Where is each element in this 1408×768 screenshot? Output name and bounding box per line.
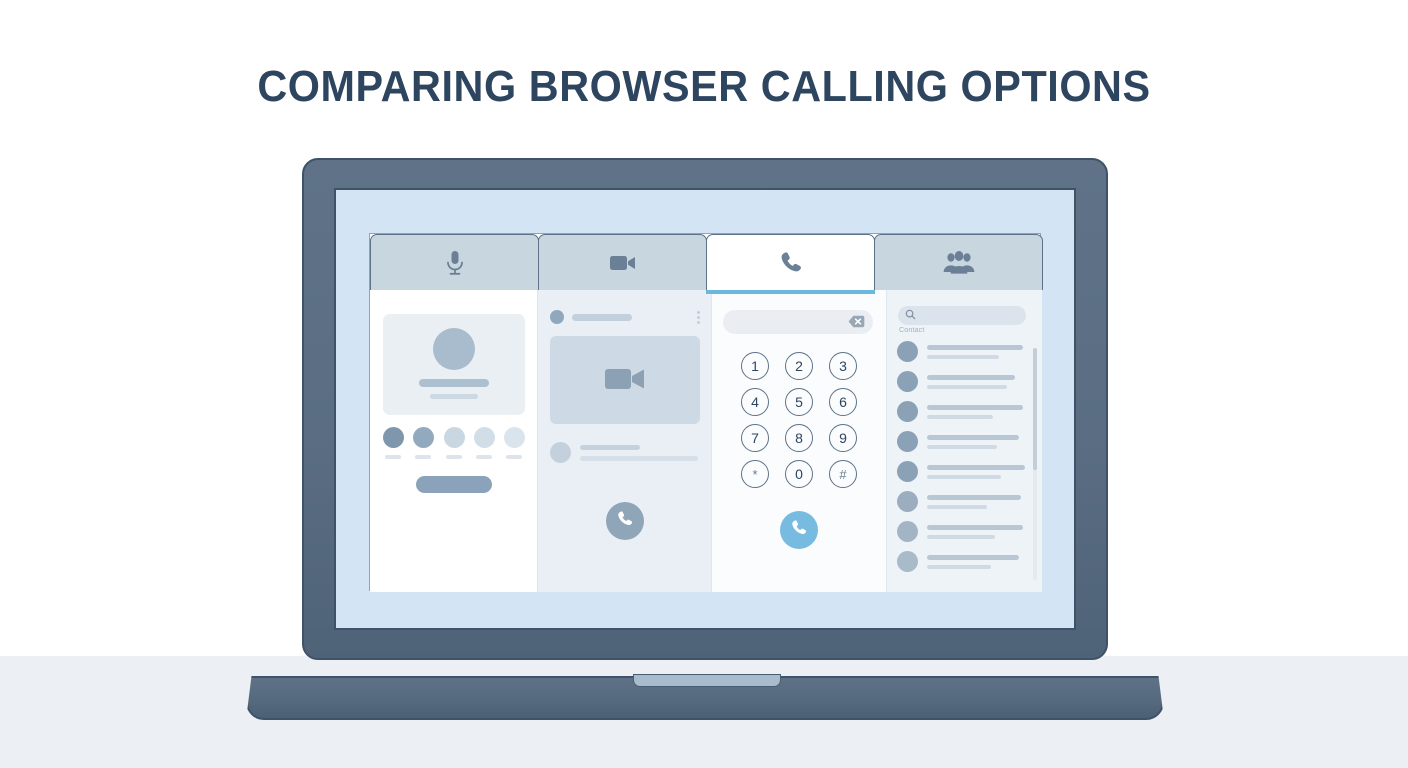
dial-key-star[interactable]: * (741, 460, 769, 488)
avatar (897, 551, 918, 572)
text-placeholder (580, 445, 640, 450)
video-panel (538, 290, 712, 592)
video-panel-meta-row (550, 442, 702, 464)
avatar (897, 431, 918, 452)
dial-key-9[interactable]: 9 (829, 424, 857, 452)
search-icon (905, 307, 916, 325)
list-item[interactable] (897, 548, 1027, 578)
scrollbar-thumb[interactable] (1033, 348, 1037, 470)
profile-chip-row (383, 427, 525, 459)
phone-icon (789, 518, 809, 543)
list-item[interactable] (897, 488, 1027, 518)
list-item[interactable] (897, 428, 1027, 458)
dialpad-panel: 1 2 3 4 5 6 7 8 9 * 0 # (712, 290, 887, 592)
video-camera-icon (608, 252, 638, 274)
avatar (897, 401, 918, 422)
dial-key-7[interactable]: 7 (741, 424, 769, 452)
dial-key-hash[interactable]: # (829, 460, 857, 488)
contacts-section-label: Contact (899, 327, 925, 334)
profile-card[interactable] (383, 314, 525, 415)
dialpad-keys: 1 2 3 4 5 6 7 8 9 * 0 # (733, 352, 865, 488)
tab-phone[interactable] (706, 234, 875, 290)
profile-chip[interactable] (504, 427, 525, 459)
avatar (897, 341, 918, 362)
dial-key-0[interactable]: 0 (785, 460, 813, 488)
profile-chip[interactable] (474, 427, 495, 459)
phone-number-input[interactable] (723, 310, 873, 334)
laptop-notch (633, 674, 781, 687)
title-placeholder (572, 314, 632, 321)
dial-key-1[interactable]: 1 (741, 352, 769, 380)
more-options-icon[interactable] (697, 311, 700, 326)
avatar (433, 328, 475, 370)
video-panel-call-button[interactable] (606, 502, 644, 540)
profile-subtitle-placeholder (430, 394, 478, 399)
tab-video[interactable] (538, 234, 707, 290)
list-item[interactable] (897, 338, 1027, 368)
list-item[interactable] (897, 398, 1027, 428)
tab-contacts[interactable] (874, 234, 1043, 290)
primary-action-button[interactable] (416, 476, 492, 493)
video-panel-header (550, 310, 700, 325)
profile-chip[interactable] (413, 427, 434, 459)
avatar (897, 461, 918, 482)
tab-active-underline (706, 290, 875, 294)
tab-microphone[interactable] (370, 234, 539, 290)
contacts-panel: Contact (887, 290, 1042, 592)
profile-panel (370, 290, 538, 592)
video-camera-icon (601, 362, 649, 399)
dial-key-6[interactable]: 6 (829, 388, 857, 416)
dial-key-3[interactable]: 3 (829, 352, 857, 380)
search-input[interactable] (898, 306, 1026, 325)
contacts-list (897, 338, 1027, 578)
screenshot-root: COMPARING BROWSER CALLING OPTIONS (0, 0, 1408, 768)
list-item[interactable] (897, 458, 1027, 488)
phone-icon (615, 509, 635, 534)
tab-bar (370, 234, 1042, 290)
call-button[interactable] (780, 511, 818, 549)
profile-chip[interactable] (383, 427, 404, 459)
phone-icon (777, 249, 805, 277)
dial-key-4[interactable]: 4 (741, 388, 769, 416)
list-item[interactable] (897, 368, 1027, 398)
profile-name-placeholder (419, 379, 489, 387)
app-window: 1 2 3 4 5 6 7 8 9 * 0 # (369, 233, 1041, 591)
avatar (897, 491, 918, 512)
avatar (897, 371, 918, 392)
video-preview[interactable] (550, 336, 700, 424)
page-title: COMPARING BROWSER CALLING OPTIONS (42, 62, 1366, 112)
list-item[interactable] (897, 518, 1027, 548)
dial-key-5[interactable]: 5 (785, 388, 813, 416)
dial-key-2[interactable]: 2 (785, 352, 813, 380)
avatar (550, 310, 564, 324)
text-placeholder (580, 456, 698, 461)
people-group-icon (942, 250, 976, 276)
backspace-icon[interactable] (848, 315, 865, 333)
dial-key-8[interactable]: 8 (785, 424, 813, 452)
avatar (897, 521, 918, 542)
panel-row: 1 2 3 4 5 6 7 8 9 * 0 # (370, 290, 1042, 592)
avatar (550, 442, 571, 463)
microphone-icon (442, 248, 468, 278)
profile-chip[interactable] (444, 427, 465, 459)
